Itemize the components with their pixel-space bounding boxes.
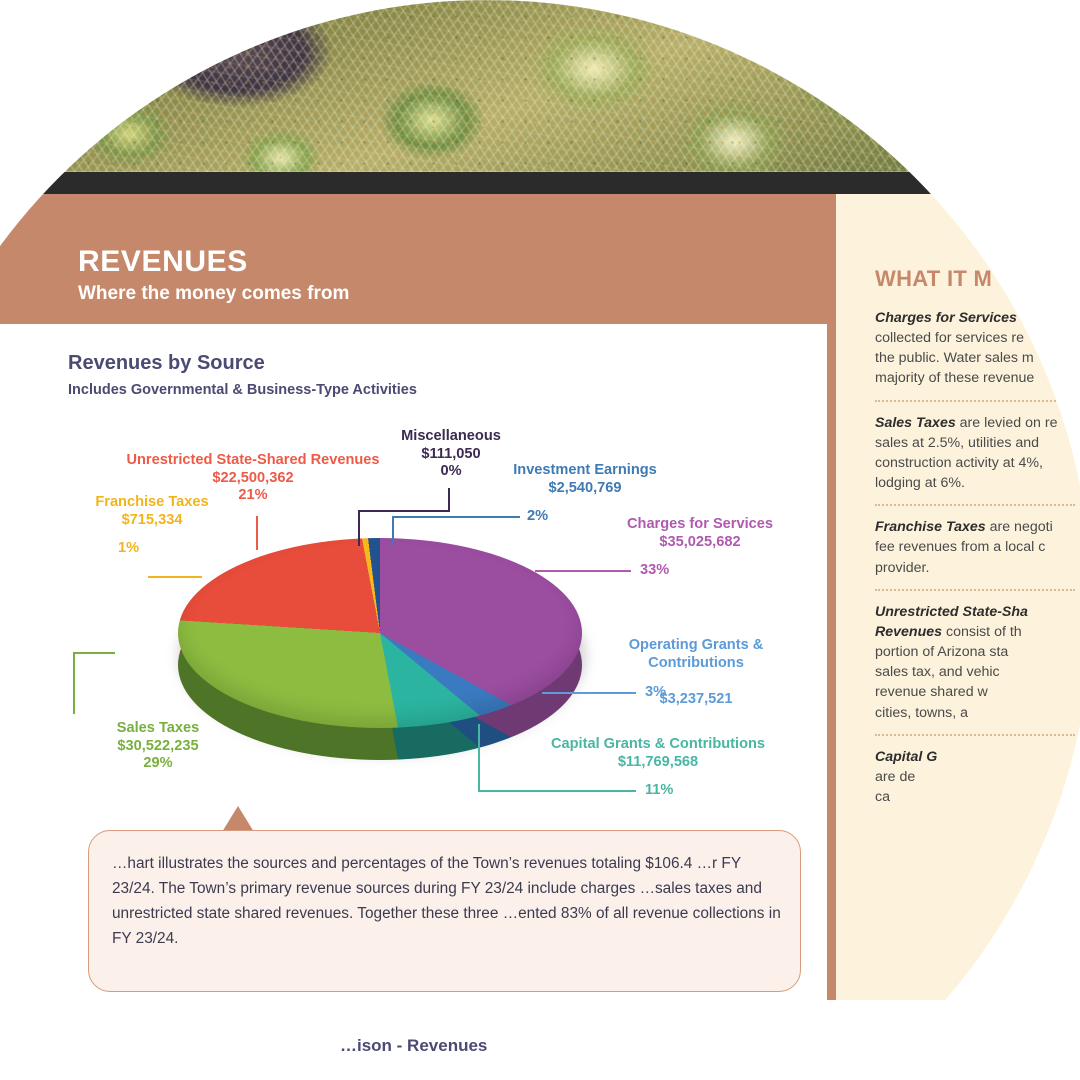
sidebar-divider: [875, 400, 1075, 402]
leader-line-franchise-taxes: [148, 576, 202, 578]
sidebar-block-charges-for-services: Charges for Services a collected for ser…: [875, 308, 1080, 389]
infographic-page: REVENUES Where the money comes from WHAT…: [0, 0, 1080, 1080]
leader-line-charges-for-services: [535, 570, 631, 572]
sidebar-divider: [875, 504, 1075, 506]
page-subtitle: Where the money comes from: [78, 284, 778, 305]
sidebar-divider: [875, 734, 1075, 736]
pie-pct-franchise-taxes: 1%: [118, 540, 139, 558]
sidebar-term-charges-for-services: Charges for Services: [875, 310, 1017, 326]
pie-pct-operating-grants: 3%: [645, 684, 666, 702]
pie-pct-investment-earnings: 2%: [527, 508, 548, 526]
pie-label-capital-grants: Capital Grants & Contributions $11,769,5…: [508, 736, 808, 771]
leader-line-capital-grants: [478, 790, 636, 792]
leader-line-miscellaneous: [358, 510, 360, 546]
sidebar-term-capital-grants: Capital G: [875, 749, 937, 765]
sidebar-term-franchise-taxes: Franchise Taxes: [875, 519, 986, 535]
pie-label-investment-earnings: Investment Earnings $2,540,769: [505, 462, 665, 497]
leader-line-investment-earnings: [392, 516, 394, 546]
banner-text-group: REVENUES Where the money comes from: [78, 246, 778, 304]
leader-line-investment-earnings: [452, 516, 520, 518]
dark-divider-bar: [0, 172, 1080, 194]
pie-label-operating-grants: Operating Grants & Contributions $3,237,…: [596, 618, 796, 728]
leader-line-investment-earnings: [392, 516, 454, 518]
sidebar-block-sales-taxes: Sales Taxes are levied on re sales at 2.…: [875, 413, 1080, 494]
leader-line-sales-taxes: [73, 652, 75, 714]
sidebar-content: WHAT IT M Charges for Services a collect…: [875, 266, 1080, 818]
chart-subtitle: Includes Governmental & Business-Type Ac…: [68, 382, 417, 398]
sidebar-heading: WHAT IT M: [875, 266, 1080, 292]
footer-caption: …ison - Revenues: [340, 1036, 487, 1056]
circular-mask: REVENUES Where the money comes from WHAT…: [0, 0, 1080, 1080]
cactus-photo: [0, 0, 1080, 172]
chart-title: Revenues by Source: [68, 352, 265, 375]
leader-line-miscellaneous: [448, 488, 450, 512]
leader-line-capital-grants: [478, 724, 480, 792]
leader-line-sales-taxes: [73, 652, 115, 654]
callout-pointer: [222, 806, 254, 832]
callout-text: …hart illustrates the sources and percen…: [112, 852, 784, 952]
pie-label-charges-for-services: Charges for Services $35,025,682: [600, 516, 800, 551]
pie-label-sales-taxes: Sales Taxes $30,522,235 29%: [58, 720, 258, 773]
sidebar-divider: [875, 589, 1075, 591]
pie-pct-charges-for-services: 33%: [640, 562, 669, 580]
page-title: REVENUES: [78, 246, 778, 278]
pie-label-unrestricted-state-shared: Unrestricted State-Shared Revenues $22,5…: [108, 452, 398, 505]
cactus-speckle-texture: [0, 0, 1080, 172]
sidebar-body-capital-grants: are de ca: [875, 769, 915, 805]
sidebar-block-franchise-taxes: Franchise Taxes are negoti fee revenues …: [875, 517, 1080, 577]
leader-line-operating-grants: [542, 692, 636, 694]
sidebar-accent-stripe: [827, 194, 836, 1000]
pie-top-face: [178, 538, 582, 728]
leader-line-unrestricted-state-shared: [256, 516, 258, 550]
sidebar-block-capital-grants: Capital G are de ca: [875, 747, 1080, 807]
pie-label-miscellaneous: Miscellaneous $111,050 0%: [392, 428, 510, 481]
leader-line-miscellaneous: [358, 510, 450, 512]
pie-pct-capital-grants: 11%: [645, 782, 673, 800]
sidebar-term-sales-taxes: Sales Taxes: [875, 415, 956, 431]
sidebar-block-unrestricted-state-shared: Unrestricted State-Sha Revenues consist …: [875, 602, 1080, 723]
